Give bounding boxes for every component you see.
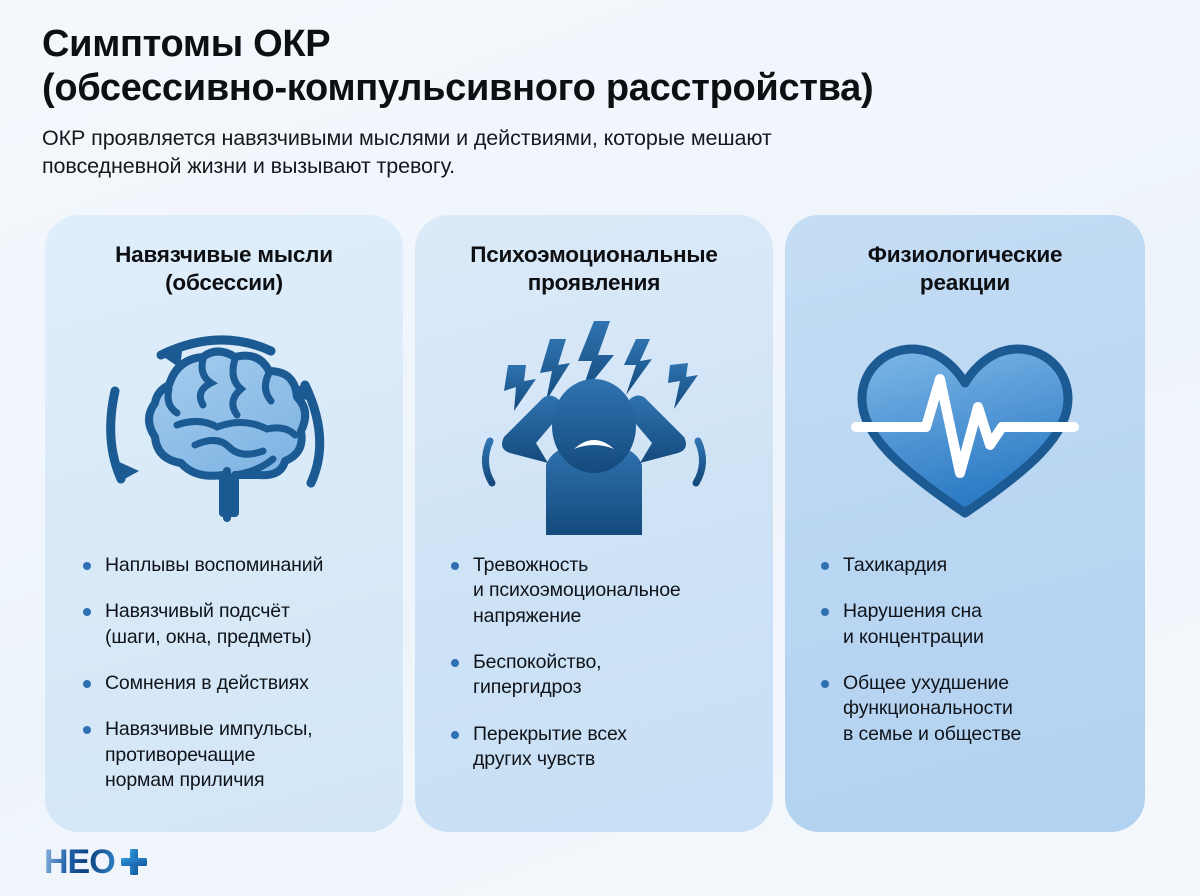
stressed-person-icon (437, 303, 751, 553)
plus-icon (119, 847, 149, 877)
list-item: Наплывы воспоминаний (83, 553, 377, 578)
card-heading: Физиологические реакции (807, 241, 1123, 303)
logo-wordmark: НЕО (44, 845, 115, 879)
list-item: Общее ухудшение функциональности в семье… (821, 671, 1119, 747)
card-physiological: Физиологические реакции Тахикардия Наруш… (785, 215, 1145, 832)
card-obsessive-thoughts: Навязчивые мысли (обсессии) (45, 215, 403, 832)
page-title: Симптомы ОКР (обсессивно-компульсивного … (42, 22, 1162, 111)
infographic-page: Симптомы ОКР (обсессивно-компульсивного … (0, 0, 1200, 896)
list-item: Беспокойство, гипергидроз (451, 650, 747, 701)
card-heading: Навязчивые мысли (обсессии) (67, 241, 381, 303)
bullet-list: Тахикардия Нарушения сна и концентрации … (807, 553, 1123, 747)
list-item: Тревожность и психоэмоциональное напряже… (451, 553, 747, 629)
list-item: Тахикардия (821, 553, 1119, 578)
bullet-list: Наплывы воспоминаний Навязчивый подсчёт … (67, 553, 381, 793)
list-item: Навязчивые импульсы, противоречащие норм… (83, 717, 377, 793)
heart-pulse-icon (807, 303, 1123, 553)
header: Симптомы ОКР (обсессивно-компульсивного … (42, 22, 1162, 181)
card-heading: Психоэмоциональные проявления (437, 241, 751, 303)
list-item: Нарушения сна и концентрации (821, 599, 1119, 650)
brand-logo: НЕО (44, 845, 149, 879)
card-psychoemotional: Психоэмоциональные проявления (415, 215, 773, 832)
list-item: Навязчивый подсчёт (шаги, окна, предметы… (83, 599, 377, 650)
cards-row: Навязчивые мысли (обсессии) (45, 215, 1157, 832)
brain-cycle-icon (67, 303, 381, 553)
bullet-list: Тревожность и психоэмоциональное напряже… (437, 553, 751, 772)
list-item: Перекрытие всех других чувств (451, 722, 747, 773)
page-subtitle: ОКР проявляется навязчивыми мыслями и де… (42, 125, 1162, 181)
list-item: Сомнения в действиях (83, 671, 377, 696)
